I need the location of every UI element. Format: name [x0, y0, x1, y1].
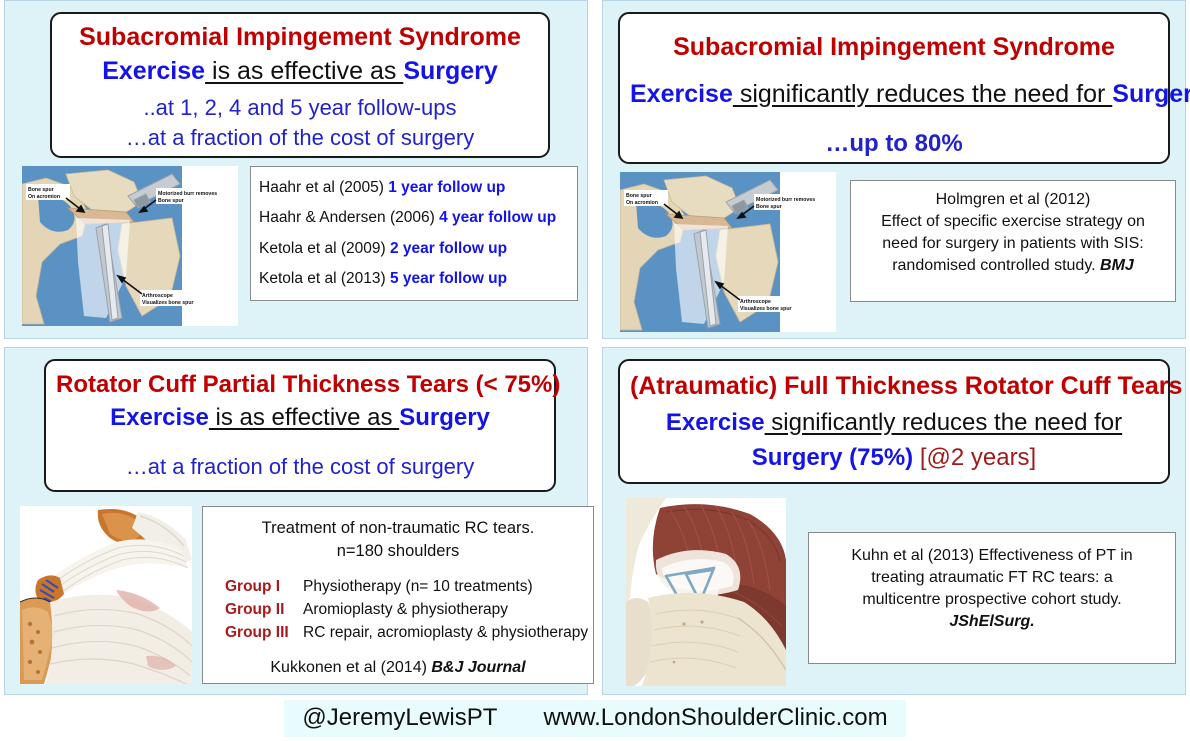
panel-lower-row: Treatment of non-traumatic RC tears. n=1…	[14, 506, 578, 686]
group-label: Group III	[211, 621, 303, 644]
svg-text:Motorized burr removes: Motorized burr removes	[158, 191, 217, 197]
group-row: Group IIIRC repair, acromioplasty & phys…	[211, 621, 585, 644]
svg-text:On acromion: On acromion	[28, 194, 60, 200]
arthroscopy-figure-svg: Bone spur On acromion Motorized burr rem…	[22, 166, 238, 326]
headline-box: Rotator Cuff Partial Thickness Tears (< …	[44, 359, 556, 492]
citation-followup: 1 year follow up	[388, 179, 505, 196]
citation-row: Ketola et al (2013) 5 year follow up	[259, 268, 571, 289]
svg-text:Motorized burr removes: Motorized burr removes	[756, 197, 815, 203]
citation-journal: BMJ	[1100, 257, 1134, 274]
panel-lower-row: Bone spur On acromion Motorized burr rem…	[14, 166, 578, 330]
infographic-sheet: Subacromial Impingement Syndrome Exercis…	[0, 0, 1190, 741]
citation-line: treating atraumatic FT RC tears: a	[823, 567, 1161, 589]
svg-text:Bone spur: Bone spur	[756, 204, 782, 210]
headline-title: Subacromial Impingement Syndrome	[62, 22, 538, 53]
headline-exercise-word: Exercise	[110, 404, 209, 431]
panel-lower-row: Kuhn et al (2013) Effectiveness of PT in…	[612, 498, 1176, 686]
svg-text:Arthroscope: Arthroscope	[740, 299, 771, 305]
svg-text:Bone spur: Bone spur	[158, 198, 184, 204]
study-title-line-1: Treatment of non-traumatic RC tears.	[211, 517, 585, 540]
headline-subtitle: Exercise significantly reduces the need …	[630, 79, 1158, 110]
panel-subacromial-impingement-exercise-vs-surgery: Subacromial Impingement Syndrome Exercis…	[4, 0, 588, 339]
panel-grid: Subacromial Impingement Syndrome Exercis…	[0, 0, 1190, 695]
group-text: Physiotherapy (n= 10 treatments)	[303, 575, 533, 598]
citation-line: need for surgery in patients with SIS:	[861, 233, 1165, 255]
groups-list: Group IPhysiotherapy (n= 10 treatments) …	[211, 575, 585, 645]
citation-row: Ketola et al (2009) 2 year follow up	[259, 238, 571, 259]
headline-title: Subacromial Impingement Syndrome	[630, 32, 1158, 63]
headline-exercise-word: Exercise	[102, 57, 205, 85]
citation-followup: 5 year follow up	[390, 270, 507, 287]
panel-rotator-cuff-partial-thickness-tears: Rotator Cuff Partial Thickness Tears (< …	[4, 347, 588, 695]
group-label: Group II	[211, 598, 303, 621]
citation-box: Treatment of non-traumatic RC tears. n=1…	[202, 506, 594, 684]
headline-surgery-word: Surgery	[399, 404, 490, 431]
cuff-tear-figure-svg	[20, 506, 192, 684]
group-label: Group I	[211, 575, 303, 598]
headline-box: Subacromial Impingement Syndrome Exercis…	[618, 12, 1170, 164]
arthroscopy-figure-svg: Bone spur On acromion Motorized burr rem…	[620, 172, 836, 332]
twitter-handle[interactable]: @JeremyLewisPT	[302, 704, 497, 732]
headline-exercise-word: Exercise	[630, 80, 733, 108]
group-row: Group IPhysiotherapy (n= 10 treatments)	[211, 575, 585, 598]
panel-atraumatic-full-thickness-rotator-cuff-tears: (Atraumatic) Full Thickness Rotator Cuff…	[602, 347, 1186, 695]
svg-text:Arthroscope: Arthroscope	[142, 293, 173, 299]
partial-thickness-rotator-cuff-tear-illustration	[20, 506, 192, 684]
citation-line: Effect of specific exercise strategy on	[861, 211, 1165, 233]
citation-followup: 2 year follow up	[390, 240, 507, 257]
citation-box: Holmgren et al (2012) Effect of specific…	[850, 180, 1176, 302]
headline-box: Subacromial Impingement Syndrome Exercis…	[50, 12, 550, 158]
cuff-repair-figure-svg	[626, 498, 786, 686]
headline-title: (Atraumatic) Full Thickness Rotator Cuff…	[630, 371, 1158, 402]
headline-middle-phrase: significantly reduces the need for	[765, 409, 1123, 436]
citation-author: Kukkonen et al (2014)	[270, 659, 431, 676]
subacromial-decompression-arthroscopy-illustration: Bone spur On acromion Motorized burr rem…	[22, 166, 238, 326]
headline-middle-phrase: significantly reduces the need for	[733, 80, 1112, 108]
citation-study: Haahr & Andersen (2006)	[259, 209, 435, 226]
headline-tagline-1: …at a fraction of the cost of surgery	[56, 454, 544, 481]
subacromial-decompression-arthroscopy-illustration: Bone spur On acromion Motorized burr rem…	[620, 172, 836, 332]
headline-box: (Atraumatic) Full Thickness Rotator Cuff…	[618, 359, 1170, 484]
headline-middle-phrase: is as effective as	[209, 404, 399, 431]
citation-line: Holmgren et al (2012)	[861, 189, 1165, 211]
headline-middle-phrase: is as effective as	[205, 57, 403, 85]
headline-subtitle: Exercise is as effective as Surgery	[62, 56, 538, 87]
full-thickness-rotator-cuff-repair-illustration	[626, 498, 786, 686]
headline-surgery-word: Surgery	[1112, 80, 1190, 108]
headline-surgery-word: Surgery (75%)	[752, 444, 913, 471]
headline-title: Rotator Cuff Partial Thickness Tears (< …	[56, 370, 544, 399]
svg-text:Bone spur: Bone spur	[626, 193, 652, 199]
citation-line: randomised controlled study. BMJ	[861, 255, 1165, 277]
citation-box: Haahr et al (2005) 1 year follow up Haah…	[250, 166, 578, 301]
group-text: Aromioplasty & physiotherapy	[303, 598, 508, 621]
svg-text:On acromion: On acromion	[626, 200, 658, 206]
headline-tagline-1: ..at 1, 2, 4 and 5 year follow-ups	[62, 95, 538, 122]
citation-journal: JShElSurg.	[823, 611, 1161, 633]
group-text: RC repair, acromioplasty & physiotherapy	[303, 621, 588, 644]
citation-box: Kuhn et al (2013) Effectiveness of PT in…	[808, 532, 1176, 664]
citation-footer: Kukkonen et al (2014) B&J Journal	[211, 659, 585, 677]
citation-study: Haahr et al (2005)	[259, 179, 384, 196]
citation-row: Haahr & Andersen (2006) 4 year follow up	[259, 207, 571, 228]
website-url[interactable]: www.LondonShoulderClinic.com	[543, 704, 887, 732]
headline-subtitle: Exercise significantly reduces the need …	[630, 408, 1158, 437]
footer: @JeremyLewisPT www.LondonShoulderClinic.…	[0, 695, 1190, 741]
headline-tagline-1: …up to 80%	[630, 129, 1158, 158]
headline-surgery-word: Surgery	[403, 57, 497, 85]
svg-text:Bone spur: Bone spur	[28, 187, 54, 193]
group-row: Group IIAromioplasty & physiotherapy	[211, 598, 585, 621]
headline-tagline-1: Surgery (75%) [@2 years]	[630, 443, 1158, 472]
headline-timepoint: [@2 years]	[913, 444, 1036, 471]
citation-line: multicentre prospective cohort study.	[823, 589, 1161, 611]
panel-lower-row: Bone spur On acromion Motorized burr rem…	[612, 172, 1176, 332]
citation-line: Kuhn et al (2013) Effectiveness of PT in	[823, 545, 1161, 567]
citation-followup: 4 year follow up	[439, 209, 556, 226]
headline-exercise-word: Exercise	[666, 409, 765, 436]
citation-study: Ketola et al (2013)	[259, 270, 386, 287]
citation-line-text: randomised controlled study.	[892, 257, 1100, 274]
study-title-line-2: n=180 shoulders	[211, 540, 585, 563]
citation-study: Ketola et al (2009)	[259, 240, 386, 257]
citation-journal: B&J Journal	[431, 659, 525, 676]
footer-band: @JeremyLewisPT www.LondonShoulderClinic.…	[284, 700, 905, 737]
headline-subtitle: Exercise is as effective as Surgery	[56, 403, 544, 432]
panel-subacromial-impingement-reduces-need-for-surgery: Subacromial Impingement Syndrome Exercis…	[602, 0, 1186, 339]
citation-row: Haahr et al (2005) 1 year follow up	[259, 177, 571, 198]
svg-text:Visualizes bone spur: Visualizes bone spur	[142, 300, 194, 306]
svg-text:Visualizes bone spur: Visualizes bone spur	[740, 306, 792, 312]
headline-tagline-2: …at a fraction of the cost of surgery	[62, 125, 538, 152]
